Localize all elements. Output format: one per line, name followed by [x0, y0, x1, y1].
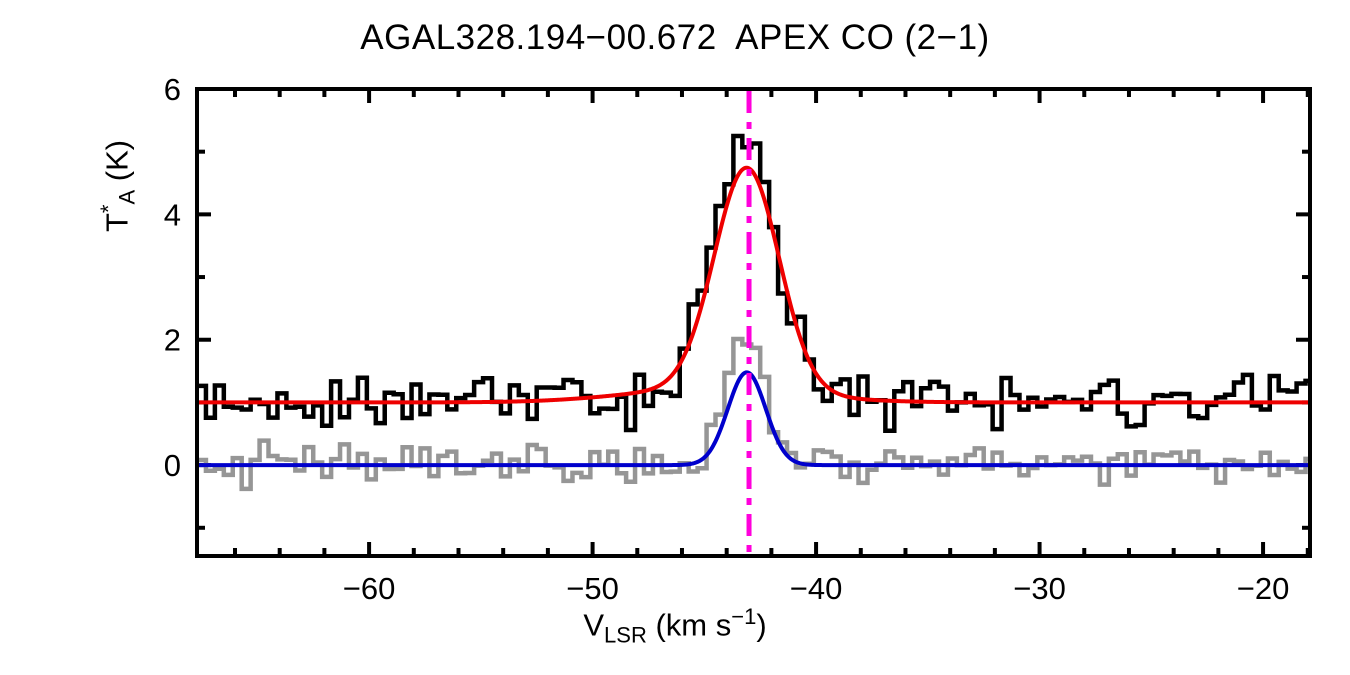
plot-canvas: −60−50−40−30−200246 — [0, 0, 1350, 675]
x-tick-label: −20 — [1237, 571, 1290, 606]
y-tick-label: 2 — [164, 323, 181, 358]
x-tick-label: −40 — [790, 571, 843, 606]
series-2 — [197, 168, 1310, 403]
axis-tick-labels-group: −60−50−40−30−200246 — [164, 72, 1290, 606]
axes-frame — [197, 89, 1310, 556]
data-series-group — [197, 136, 1314, 489]
figure-root: AGAL328.194−00.672 APEX CO (2−1) T*A (K)… — [0, 0, 1350, 675]
x-tick-label: −60 — [343, 571, 396, 606]
y-tick-label: 4 — [164, 197, 181, 232]
y-tick-label: 0 — [164, 448, 181, 483]
spectrum-plot: −60−50−40−30−200246 — [0, 0, 1350, 675]
x-tick-label: −30 — [1013, 571, 1066, 606]
y-tick-label: 6 — [164, 72, 181, 107]
plot-frame — [197, 89, 1310, 556]
axis-ticks-group — [197, 89, 1310, 556]
x-tick-label: −50 — [566, 571, 619, 606]
